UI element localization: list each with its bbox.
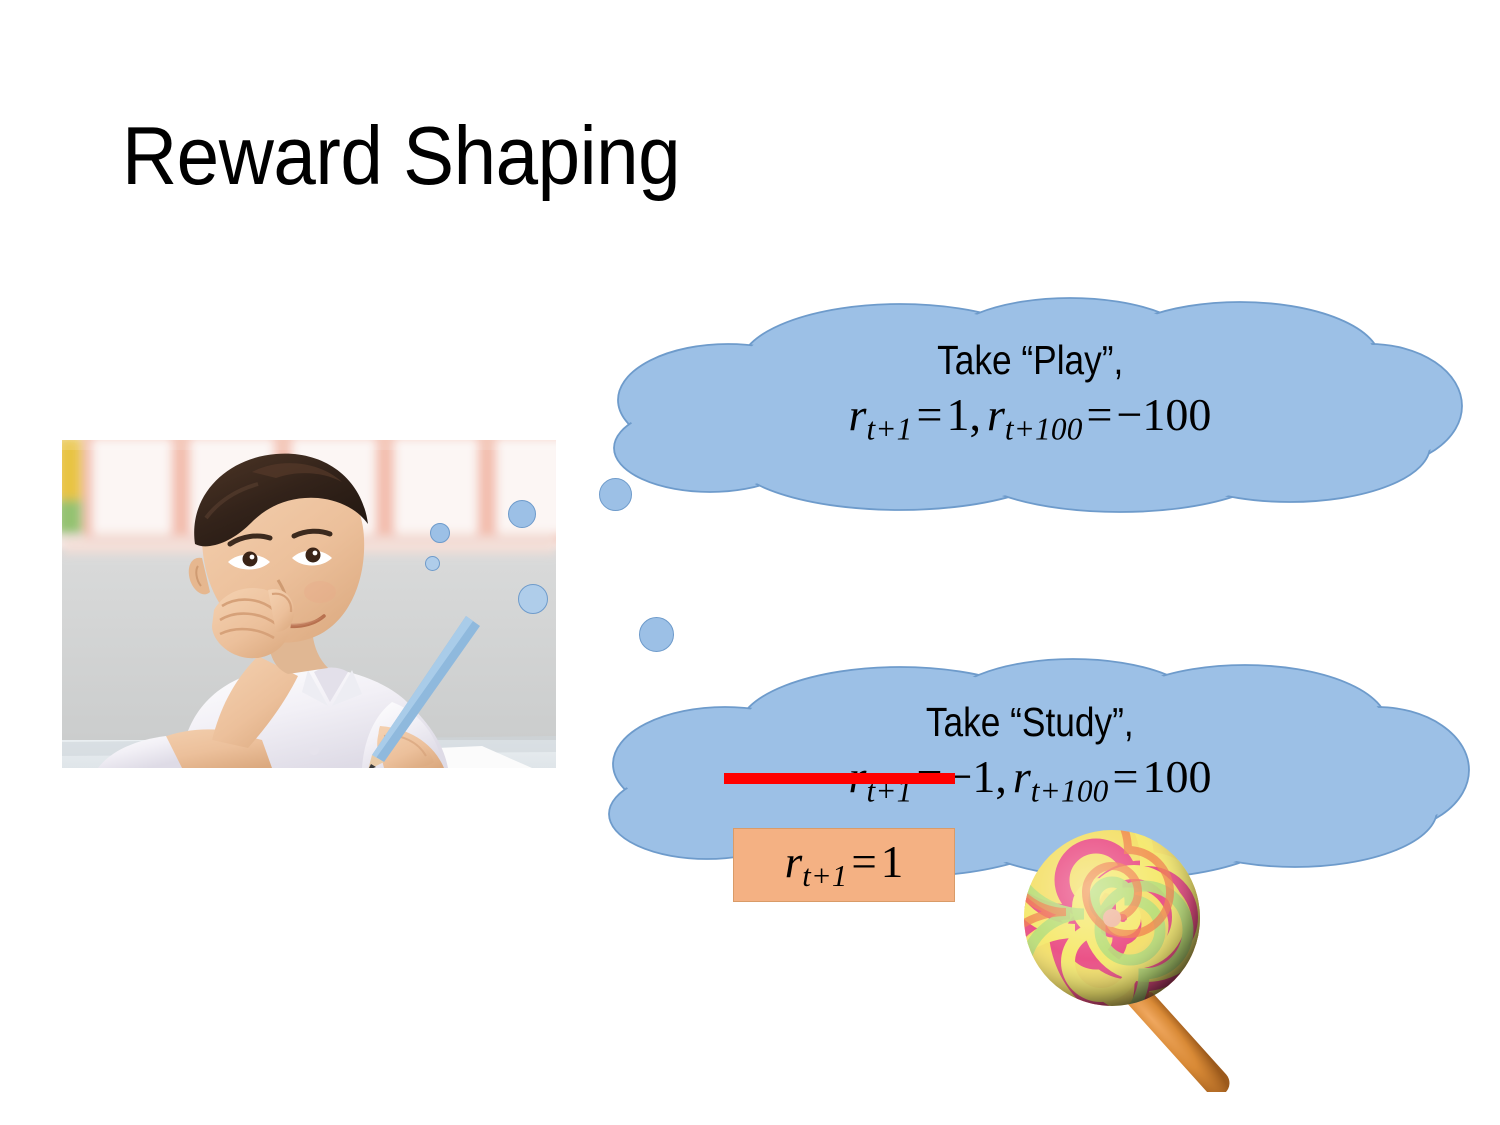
box-eq: = (847, 837, 880, 887)
lollipop-icon (1012, 822, 1302, 1092)
box-val: 1 (881, 837, 904, 887)
box-sub: t+1 (802, 859, 847, 893)
thought-dot-medium-1 (508, 500, 536, 528)
boy-thinking-photo (62, 440, 556, 768)
thought-dot-small-2 (425, 556, 440, 571)
thought-dot-medium-4 (639, 617, 674, 652)
shaped-reward-formula: rt+1=1 (785, 836, 903, 894)
slide-canvas: Reward Shaping (0, 0, 1500, 1125)
thought-bubble-play: Take “Play”, rt+1=1,rt+100=−100 (600, 288, 1460, 514)
thought-dot-medium-2 (518, 584, 548, 614)
thought-dot-small-1 (430, 523, 450, 543)
shaped-reward-box: rt+1=1 (733, 828, 955, 902)
box-var: r (785, 837, 803, 887)
strikethrough-line (724, 773, 955, 784)
page-title: Reward Shaping (122, 112, 680, 199)
